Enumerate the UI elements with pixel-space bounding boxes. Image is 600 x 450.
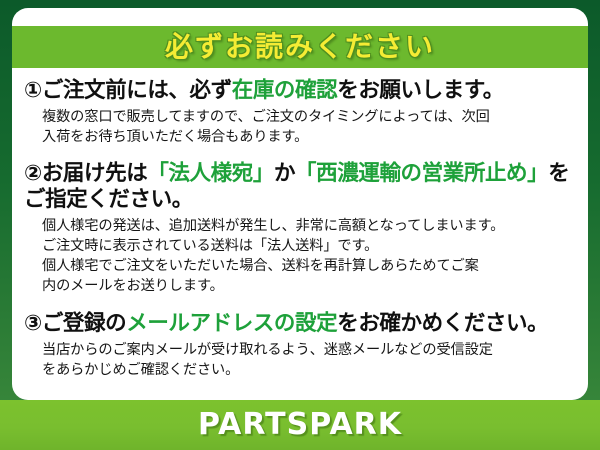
notice-item-2-heading-lead: お届け先は: [42, 161, 148, 186]
notice-item-1-heading-highlight: 在庫の確認: [232, 78, 338, 103]
notice-content: ①ご注文前には、必ず在庫の確認をお願いします。 複数の窓口で販売してますので、ご…: [12, 68, 588, 382]
notice-item-2: ②お届け先は「法人様宛」か「西濃運輸の営業所止め」をご指定ください。 個人様宅の…: [24, 161, 576, 297]
notice-item-3-heading-highlight: メールアドレスの設定: [126, 311, 337, 336]
notice-item-2-heading-middle: か: [274, 161, 295, 186]
notice-item-3-heading-tail: をお確かめください。: [337, 311, 548, 336]
notice-item-2-heading-highlight: 「法人様宛」: [147, 161, 274, 186]
notice-item-2-body-line-2: ご注文時に表示されている送料は「法人送料」です。: [42, 236, 576, 256]
notice-item-1-body-line-1: 複数の窓口で販売してますので、ご注文のタイミングによっては、次回: [42, 107, 576, 127]
notice-item-2-body-line-3: 個人様宅でご注文をいただいた場合、送料を再計算しあらためてご案: [42, 256, 576, 276]
notice-item-1-body-line-2: 入荷をお待ち頂いただく場合もあります。: [42, 127, 576, 147]
notice-item-2-marker: ②: [24, 161, 42, 186]
notice-item-1-heading: ①ご注文前には、必ず在庫の確認をお願いします。: [24, 78, 576, 104]
notice-item-2-body-line-1: 個人様宅の発送は、追加送料が発生し、非常に高額となってしまいます。: [42, 216, 576, 236]
notice-item-1-heading-tail: をお願いします。: [337, 78, 504, 103]
notice-item-1-body: 複数の窓口で販売してますので、ご注文のタイミングによっては、次回 入荷をお待ち頂…: [42, 107, 576, 147]
notice-item-3-body-line-1: 当店からのご案内メールが受け取れるよう、迷惑メールなどの受信設定: [42, 340, 576, 360]
footer-band: PARTSPARK: [0, 400, 600, 450]
notice-item-2-heading-highlight-2: 「西濃運輸の営業所止め」: [295, 161, 548, 186]
notice-item-3-heading-lead: ご登録の: [42, 311, 126, 336]
notice-item-1: ①ご注文前には、必ず在庫の確認をお願いします。 複数の窓口で販売してますので、ご…: [24, 78, 576, 148]
notice-item-3-body: 当店からのご案内メールが受け取れるよう、迷惑メールなどの受信設定 をあらかじめご…: [42, 340, 576, 380]
notice-item-1-heading-lead: ご注文前には、必ず: [42, 78, 232, 103]
notice-item-3-heading: ③ご登録のメールアドレスの設定をお確かめください。: [24, 311, 576, 337]
notice-item-3: ③ご登録のメールアドレスの設定をお確かめください。 当店からのご案内メールが受け…: [24, 311, 576, 381]
notice-frame: 必ずお読みください ①ご注文前には、必ず在庫の確認をお願いします。 複数の窓口で…: [0, 0, 600, 450]
notice-item-2-body-line-4: 内のメールをお送りします。: [42, 276, 576, 296]
banner-title: 必ずお読みください: [165, 33, 435, 61]
notice-item-2-heading: ②お届け先は「法人様宛」か「西濃運輸の営業所止め」をご指定ください。: [24, 161, 576, 213]
notice-item-1-marker: ①: [24, 78, 42, 103]
notice-item-2-body: 個人様宅の発送は、追加送料が発生し、非常に高額となってしまいます。 ご注文時に表…: [42, 216, 576, 297]
notice-item-3-marker: ③: [24, 311, 42, 336]
notice-item-3-body-line-2: をあらかじめご確認ください。: [42, 360, 576, 380]
notice-card: 必ずお読みください ①ご注文前には、必ず在庫の確認をお願いします。 複数の窓口で…: [12, 8, 588, 400]
banner-header: 必ずお読みください: [12, 26, 588, 68]
brand-logo-partspark: PARTSPARK: [198, 410, 402, 440]
